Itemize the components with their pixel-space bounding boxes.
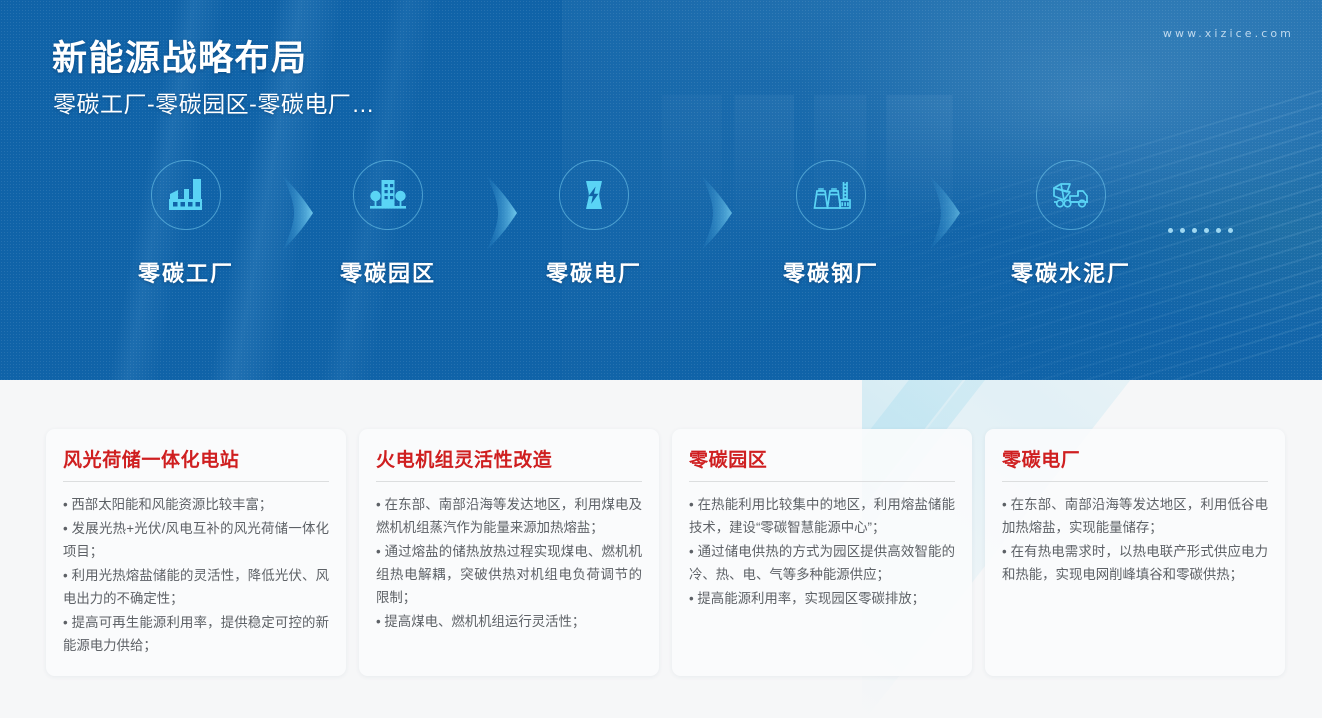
card-title: 风光荷储一体化电站 [63, 445, 329, 472]
dot [1204, 228, 1209, 233]
power-plant-bolt-icon [573, 175, 615, 215]
card-zero-carbon-power-plant[interactable]: 零碳电厂 • 在东部、南部沿海等发达地区，利用低谷电加热熔盐，实现能量储存； •… [985, 429, 1285, 676]
card-zero-carbon-park[interactable]: 零碳园区 • 在热能利用比较集中的地区，利用熔盐储能技术，建设“零碳智慧能源中心… [672, 429, 972, 676]
dot [1180, 228, 1185, 233]
card-bullet: • 在热能利用比较集中的地区，利用熔盐储能技术，建设“零碳智慧能源中心”； [689, 493, 955, 539]
page-subtitle: 零碳工厂-零碳园区-零碳电厂… [53, 85, 375, 119]
step-label: 零碳水泥厂 [991, 256, 1151, 288]
card-bullet: • 利用光热熔盐储能的灵活性，降低光伏、风电出力的不确定性； [63, 564, 329, 610]
cement-mixer-truck-icon [1048, 175, 1094, 215]
card-title: 零碳电厂 [1002, 445, 1268, 472]
step-zero-carbon-cement-plant[interactable]: 零碳水泥厂 [991, 160, 1151, 288]
site-url: www.xizice.com [1163, 27, 1294, 40]
step-icon-circle [1036, 160, 1106, 230]
card-bullet: • 西部太阳能和风能资源比较丰富； [63, 493, 329, 516]
step-label: 零碳园区 [308, 256, 468, 288]
step-zero-carbon-steel-plant[interactable]: 零碳钢厂 [751, 160, 911, 288]
step-zero-carbon-power-plant[interactable]: 零碳电厂 [514, 160, 674, 288]
card-bullet: • 通过熔盐的储热放热过程实现煤电、燃机机组热电解耦，突破供热对机组电负荷调节的… [376, 540, 642, 609]
steel-plant-icon [809, 175, 853, 215]
step-zero-carbon-factory[interactable]: 零碳工厂 [106, 160, 266, 288]
slide-root: www.xizice.com 新能源战略布局 零碳工厂-零碳园区-零碳电厂… [0, 0, 1322, 718]
step-icon-circle [151, 160, 221, 230]
page-title: 新能源战略布局 [52, 30, 308, 81]
factory-icon [165, 175, 207, 215]
step-label: 零碳钢厂 [751, 256, 911, 288]
step-zero-carbon-park[interactable]: 零碳园区 [308, 160, 468, 288]
card-bullet: • 提高能源利用率，实现园区零碳排放； [689, 587, 955, 610]
step-label: 零碳电厂 [514, 256, 674, 288]
dot [1168, 228, 1173, 233]
card-bullet: • 在东部、南部沿海等发达地区，利用低谷电加热熔盐，实现能量储存； [1002, 493, 1268, 539]
detail-section: 风光荷储一体化电站 • 西部太阳能和风能资源比较丰富； • 发展光热+光伏/风电… [0, 380, 1322, 718]
dot [1228, 228, 1233, 233]
card-bullet: • 通过储电供热的方式为园区提供高效智能的冷、热、电、气等多种能源供应； [689, 540, 955, 586]
card-divider [1002, 481, 1268, 482]
industrial-park-icon [367, 175, 409, 215]
chevron-right-icon [928, 176, 962, 250]
card-grid: 风光荷储一体化电站 • 西部太阳能和风能资源比较丰富； • 发展光热+光伏/风电… [46, 429, 1285, 676]
hero-banner: www.xizice.com 新能源战略布局 零碳工厂-零碳园区-零碳电厂… [0, 0, 1322, 380]
step-icon-circle [353, 160, 423, 230]
card-bullet: • 在有热电需求时，以热电联产形式供应电力和热能，实现电网削峰填谷和零碳供热； [1002, 540, 1268, 586]
card-bullet: • 在东部、南部沿海等发达地区，利用煤电及燃机机组蒸汽作为能量来源加热熔盐； [376, 493, 642, 539]
card-divider [376, 481, 642, 482]
step-label: 零碳工厂 [106, 256, 266, 288]
chevron-right-icon [700, 176, 734, 250]
card-bullet: • 发展光热+光伏/风电互补的风光荷储一体化项目； [63, 517, 329, 563]
step-icon-circle [559, 160, 629, 230]
card-divider [689, 481, 955, 482]
card-title: 零碳园区 [689, 445, 955, 472]
zero-carbon-step-flow: 零碳工厂 [0, 160, 1322, 310]
card-bullet: • 提高煤电、燃机机组运行灵活性； [376, 610, 642, 633]
card-bullet: • 提高可再生能源利用率，提供稳定可控的新能源电力供给； [63, 611, 329, 657]
card-title: 火电机组灵活性改造 [376, 445, 642, 472]
card-thermal-unit-flexibility[interactable]: 火电机组灵活性改造 • 在东部、南部沿海等发达地区，利用煤电及燃机机组蒸汽作为能… [359, 429, 659, 676]
card-wind-solar-storage-station[interactable]: 风光荷储一体化电站 • 西部太阳能和风能资源比较丰富； • 发展光热+光伏/风电… [46, 429, 346, 676]
dot [1216, 228, 1221, 233]
card-divider [63, 481, 329, 482]
dot [1192, 228, 1197, 233]
more-steps-dots [1168, 228, 1233, 233]
step-icon-circle [796, 160, 866, 230]
